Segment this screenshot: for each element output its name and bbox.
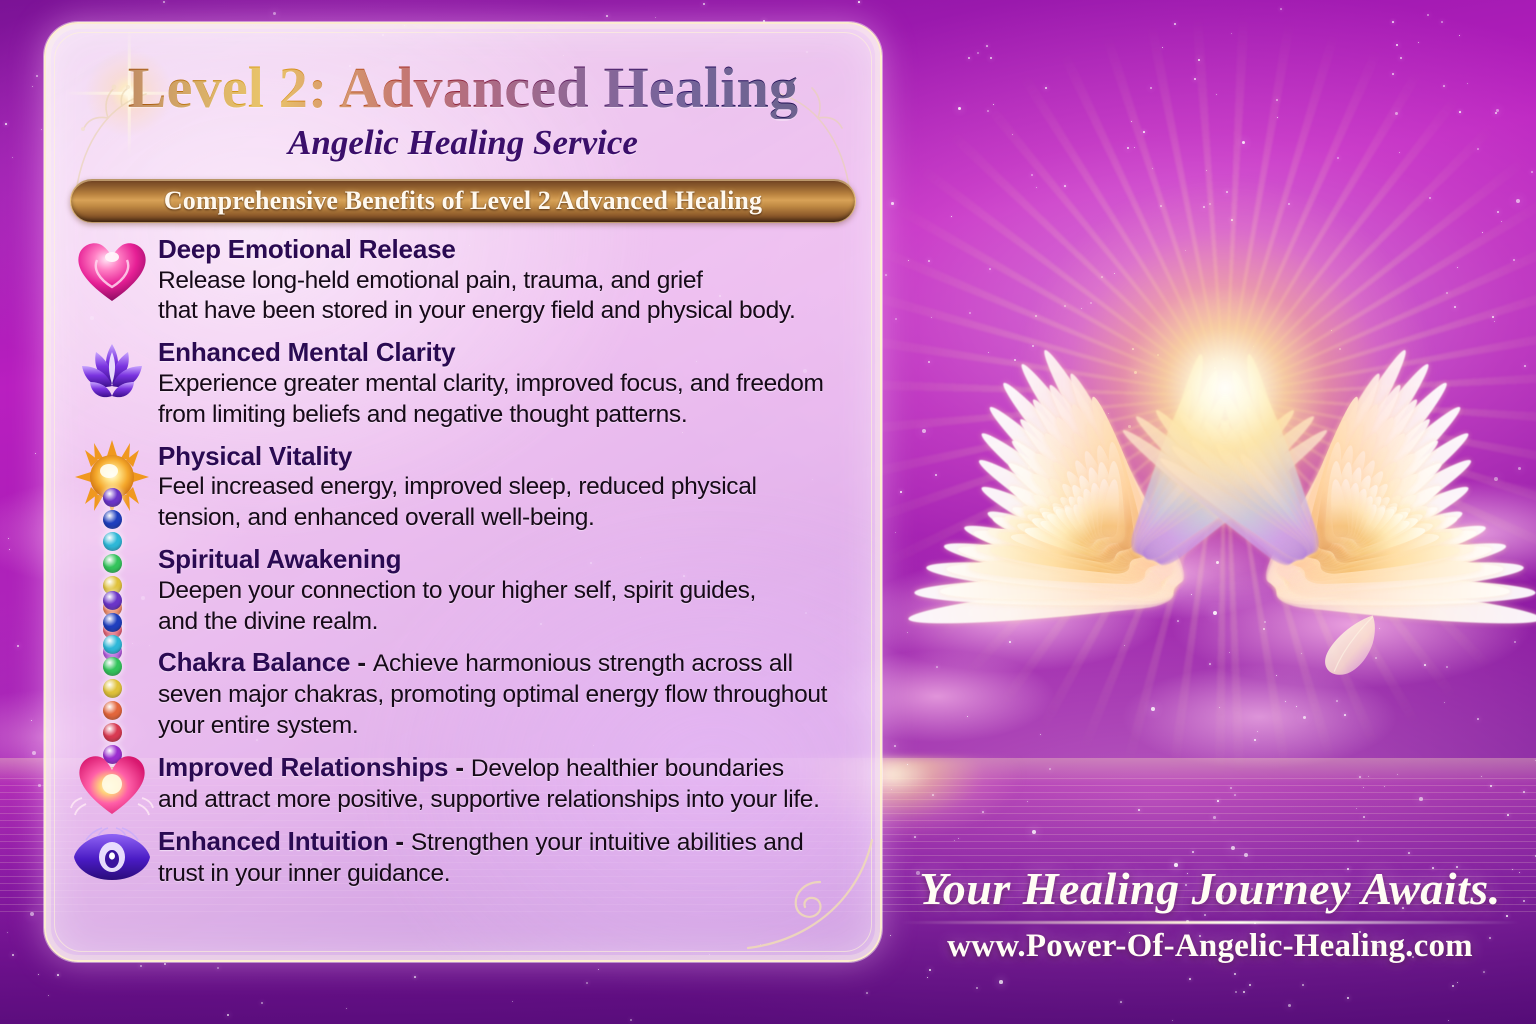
chakra-gem [103, 679, 122, 698]
benefit-line: trust in your inner guidance. [158, 859, 854, 890]
benefit-dash: - [388, 826, 411, 856]
benefit-description: trust in your inner guidance. [158, 859, 854, 890]
benefit-heading: Enhanced Intuition - Strengthen your int… [158, 826, 854, 858]
benefit-item: Physical VitalityFeel increased energy, … [66, 440, 854, 534]
benefit-content: Enhanced Mental ClarityExperience greate… [158, 336, 854, 430]
benefit-heading-text: Chakra Balance [158, 647, 350, 677]
third-eye-icon [72, 826, 152, 888]
benefit-icon-slot [66, 751, 158, 815]
benefit-content: Improved Relationships - Develop healthi… [158, 751, 854, 816]
benefit-line: that have been stored in your energy fie… [158, 296, 854, 327]
chakra-gem [103, 635, 122, 654]
benefit-heading-text: Spiritual Awakening [158, 544, 401, 574]
core-light-glow [1010, 173, 1440, 603]
page-subtitle: Angelic Healing Service [46, 123, 880, 163]
benefit-heading-text: Enhanced Intuition [158, 826, 388, 856]
benefits-card: Level 2: Advanced Healing Angelic Healin… [44, 22, 882, 962]
benefit-item: Improved Relationships - Develop healthi… [66, 751, 854, 816]
benefit-heading-text: Improved Relationships [158, 752, 448, 782]
benefit-icon-slot [66, 646, 158, 720]
benefit-line: Feel increased energy, improved sleep, r… [158, 472, 854, 503]
benefit-heading: Spiritual Awakening [158, 544, 854, 575]
benefit-inline-text: Achieve harmonious strength across all [373, 650, 793, 677]
benefit-icon-slot [66, 336, 158, 410]
benefit-heading-text: Enhanced Mental Clarity [158, 337, 455, 367]
benefit-icon-slot [66, 233, 158, 307]
benefit-item: Enhanced Mental ClarityExperience greate… [66, 336, 854, 430]
benefit-line: your entire system. [158, 711, 854, 742]
benefit-description: Experience greater mental clarity, impro… [158, 369, 854, 431]
benefit-line: and the divine realm. [158, 607, 854, 638]
benefit-item: Spiritual AwakeningDeepen your connectio… [66, 543, 854, 637]
banner-label: Comprehensive Benefits of Level 2 Advanc… [164, 186, 762, 216]
angel-wings-artwork [905, 0, 1536, 770]
benefit-heading: Deep Emotional Release [158, 234, 854, 265]
benefit-line: seven major chakras, promoting optimal e… [158, 680, 854, 711]
chakra-gem [103, 488, 122, 507]
banner-bar: Comprehensive Benefits of Level 2 Advanc… [70, 179, 856, 223]
benefit-item: Deep Emotional ReleaseRelease long-held … [66, 233, 854, 327]
benefit-content: Chakra Balance - Achieve harmonious stre… [158, 646, 854, 742]
benefit-content: Deep Emotional ReleaseRelease long-held … [158, 233, 854, 327]
benefit-description: seven major chakras, promoting optimal e… [158, 680, 854, 742]
benefit-dash: - [448, 752, 471, 782]
chakra-gem [103, 591, 122, 610]
benefit-heading-text: Deep Emotional Release [158, 234, 456, 264]
pink-heart-icon [73, 235, 151, 305]
chakra-gem [103, 554, 122, 573]
benefit-heading: Chakra Balance - Achieve harmonious stre… [158, 647, 854, 679]
benefit-line: and attract more positive, supportive re… [158, 785, 854, 816]
falling-feather-icon [1312, 608, 1386, 682]
benefit-line: Deepen your connection to your higher se… [158, 576, 854, 607]
benefit-dash: - [350, 647, 373, 677]
poster-canvas: Level 2: Advanced Healing Angelic Healin… [0, 0, 1536, 1024]
benefits-banner: Comprehensive Benefits of Level 2 Advanc… [70, 179, 856, 223]
benefit-heading: Improved Relationships - Develop healthi… [158, 752, 854, 784]
benefit-heading-text: Physical Vitality [158, 441, 352, 471]
benefit-description: Feel increased energy, improved sleep, r… [158, 472, 854, 534]
benefit-inline-text: Strengthen your intuitive abilities and [411, 829, 804, 856]
benefit-line: Release long-held emotional pain, trauma… [158, 266, 854, 297]
benefit-line: tension, and enhanced overall well-being… [158, 503, 854, 534]
benefit-content: Physical VitalityFeel increased energy, … [158, 440, 854, 534]
benefit-description: Release long-held emotional pain, trauma… [158, 266, 854, 328]
glowing-heart-icon [70, 748, 154, 818]
benefits-list: Deep Emotional ReleaseRelease long-held … [46, 233, 880, 890]
chakra-gem [103, 613, 122, 632]
chakra-gem [103, 723, 122, 742]
benefit-description: Deepen your connection to your higher se… [158, 576, 854, 638]
chakra-gem [103, 701, 122, 720]
benefit-content: Spiritual AwakeningDeepen your connectio… [158, 543, 854, 637]
tagline: Your Healing Journey Awaits. [900, 862, 1520, 915]
benefit-line: Experience greater mental clarity, impro… [158, 369, 854, 400]
chakra-gem [103, 657, 122, 676]
benefit-inline-text: Develop healthier boundaries [471, 755, 784, 782]
purple-lotus-icon [73, 338, 151, 408]
benefit-heading: Enhanced Mental Clarity [158, 337, 854, 368]
benefit-line: from limiting beliefs and negative thoug… [158, 400, 854, 431]
benefit-heading: Physical Vitality [158, 441, 854, 472]
website-url: www.Power-Of-Angelic-Healing.com [900, 928, 1520, 965]
benefit-item: Chakra Balance - Achieve harmonious stre… [66, 646, 854, 742]
chakra-gem [103, 510, 122, 529]
tagline-divider [900, 921, 1520, 924]
benefit-item: Enhanced Intuition - Strengthen your int… [66, 825, 854, 890]
benefit-description: and attract more positive, supportive re… [158, 785, 854, 816]
chakra-gem [103, 532, 122, 551]
page-title: Level 2: Advanced Healing [46, 24, 880, 119]
benefit-icon-slot [66, 825, 158, 889]
benefit-content: Enhanced Intuition - Strengthen your int… [158, 825, 854, 890]
